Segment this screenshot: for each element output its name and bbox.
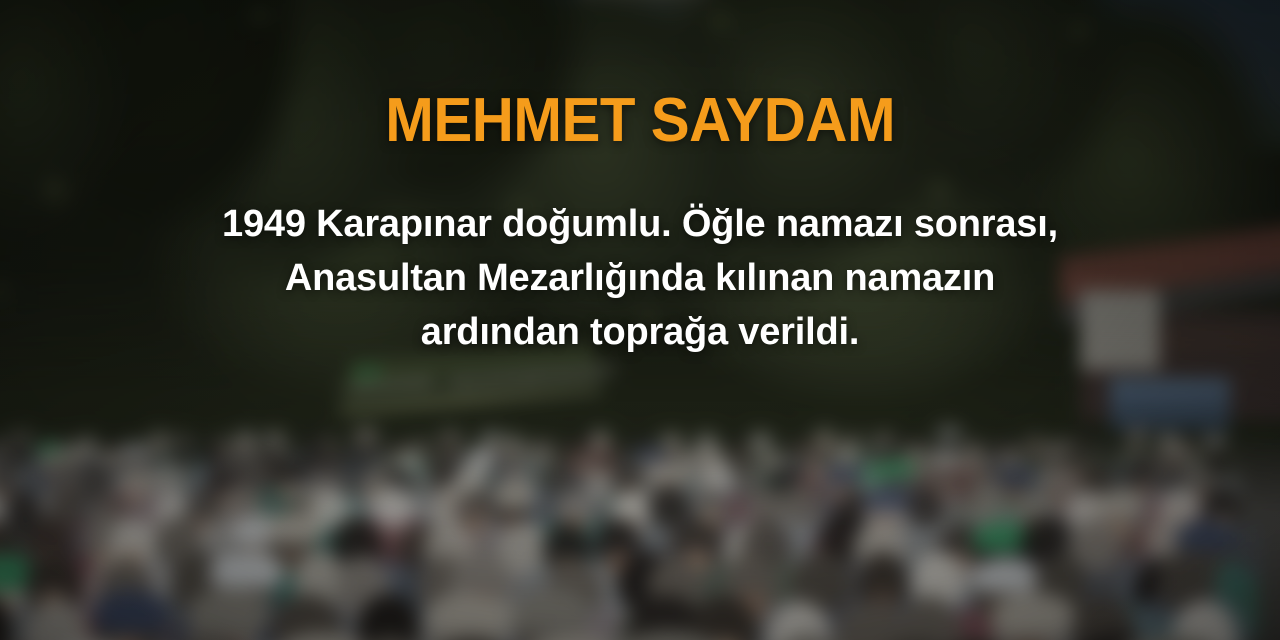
description-line-2: Anasultan Mezarlığında kılınan namazın	[222, 252, 1058, 306]
obituary-card: KONYA BÜYÜKŞEHİR KONYA BÜYÜKŞEHİR BELEDİ…	[0, 0, 1280, 640]
description-line-3: ardından toprağa verildi.	[222, 306, 1058, 360]
description-line-1: 1949 Karapınar doğumlu. Öğle namazı sonr…	[222, 198, 1058, 252]
text-content: MEHMET SAYDAM 1949 Karapınar doğumlu. Öğ…	[0, 0, 1280, 640]
obituary-description: 1949 Karapınar doğumlu. Öğle namazı sonr…	[222, 198, 1058, 360]
page-title: MEHMET SAYDAM	[385, 90, 895, 152]
